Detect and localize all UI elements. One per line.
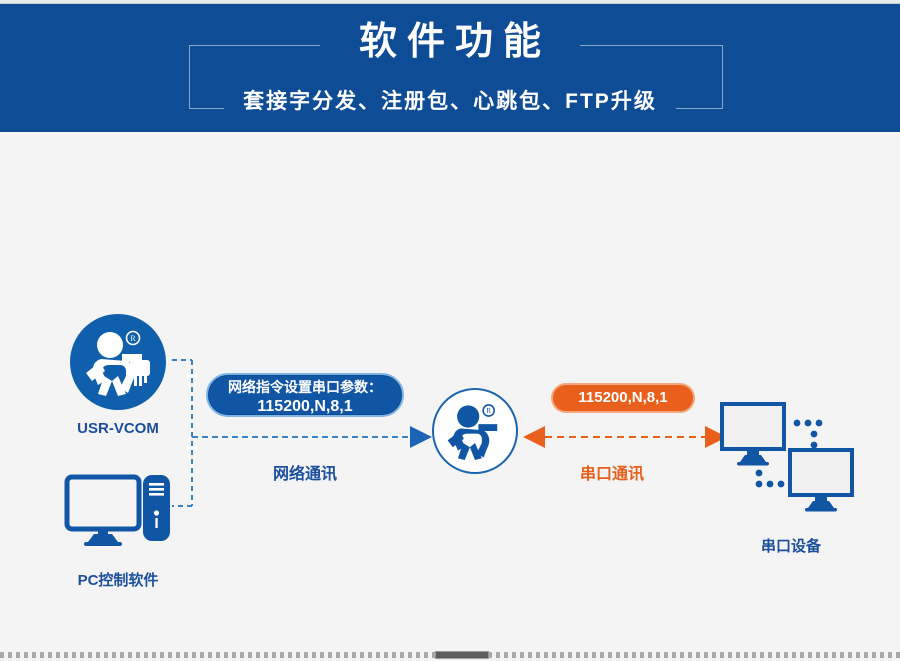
svg-text:R: R xyxy=(130,334,136,343)
scrollbar-thumb[interactable] xyxy=(435,651,489,659)
horizontal-scrollbar[interactable] xyxy=(0,648,900,661)
page-banner: 软件功能 套接字分发、注册包、心跳包、FTP升级 xyxy=(0,4,900,132)
usr-logo-outline-icon: R xyxy=(432,388,518,474)
page-subtitle-text: 套接字分发、注册包、心跳包、FTP升级 xyxy=(243,90,657,113)
network-command-badge-line2: 115200,N,8,1 xyxy=(208,397,402,417)
usr-logo-icon: R xyxy=(70,314,166,410)
serial-devices-icon xyxy=(716,400,866,518)
page-subtitle: 套接字分发、注册包、心跳包、FTP升级 xyxy=(0,88,900,116)
serial-arrow-left-icon xyxy=(523,426,545,448)
node-serial-devices-label: 串口设备 xyxy=(716,535,866,556)
page-title: 软件功能 xyxy=(0,18,900,66)
diagram-canvas: R USR-VCOM xyxy=(0,132,900,644)
network-link-label: 网络通讯 xyxy=(245,460,365,484)
serial-parameter-badge: 115200,N,8,1 xyxy=(551,383,695,413)
page-title-text: 软件功能 xyxy=(359,21,551,63)
svg-text:R: R xyxy=(486,408,491,415)
node-center-device[interactable]: R xyxy=(432,388,518,474)
desktop-computer-icon xyxy=(58,470,178,550)
node-usr-vcom-label: USR-VCOM xyxy=(66,420,170,437)
node-pc-software[interactable]: PC控制软件 xyxy=(58,470,178,590)
network-command-badge: 网络指令设置串口参数： 115200,N,8,1 xyxy=(206,373,404,417)
network-command-badge-line1: 网络指令设置串口参数： xyxy=(208,377,402,397)
node-serial-devices[interactable]: 串口设备 xyxy=(716,400,866,556)
node-pc-software-label: PC控制软件 xyxy=(58,569,178,590)
node-usr-vcom[interactable]: R USR-VCOM xyxy=(66,314,170,437)
network-arrow-icon xyxy=(410,426,432,448)
serial-link-label: 串口通讯 xyxy=(552,460,672,484)
